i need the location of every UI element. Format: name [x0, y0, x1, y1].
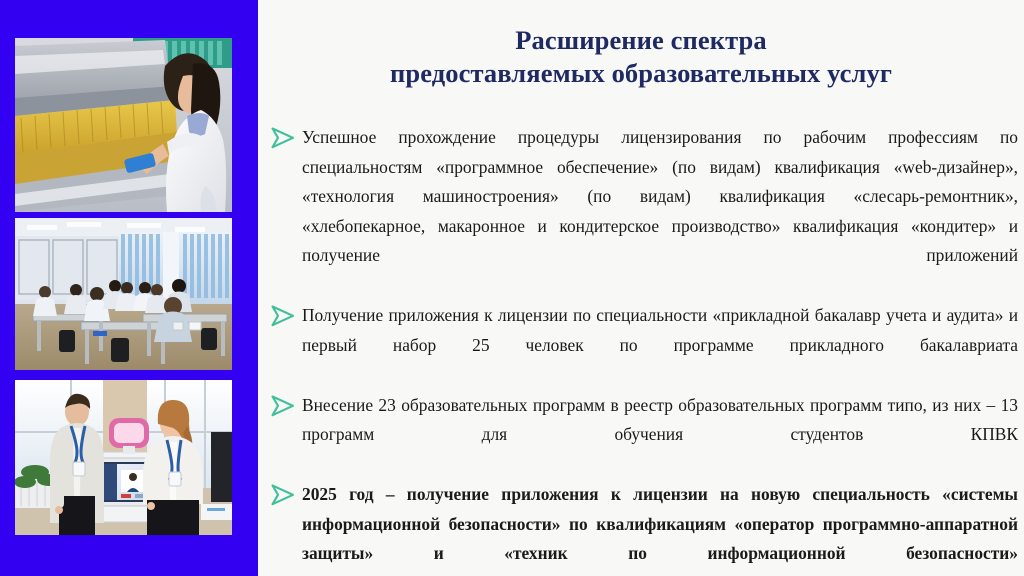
- list-item: 2025 год – получение приложения к лиценз…: [266, 480, 1018, 576]
- left-blue-panel: [0, 0, 258, 576]
- list-item: Внесение 23 образовательных программ в р…: [266, 391, 1018, 480]
- slide-root: Расширение спектра предоставляемых образ…: [0, 0, 1024, 576]
- photo-classroom-students-graphic: [15, 218, 232, 370]
- arrow-right-outline-icon: [269, 394, 297, 418]
- page-title: Расширение спектра предоставляемых образ…: [278, 24, 1004, 90]
- page-title-line-1: Расширение спектра: [278, 24, 1004, 57]
- arrow-right-outline-icon: [269, 483, 297, 507]
- photo-food-production-line-graphic: [15, 38, 232, 212]
- page-title-line-2: предоставляемых образовательных услуг: [278, 57, 1004, 90]
- list-item: Получение приложения к лицензии по специ…: [266, 301, 1018, 390]
- photo-students-with-kiosk-graphic: [15, 380, 232, 535]
- photo-food-production-line: [15, 38, 232, 212]
- photo-classroom-students: [15, 218, 232, 370]
- list-item-text: Внесение 23 образовательных программ в р…: [302, 391, 1018, 480]
- list-item-text: Успешное прохождение процедуры лицензиро…: [302, 123, 1018, 300]
- list-item-text: 2025 год – получение приложения к лиценз…: [302, 480, 1018, 576]
- list-item-text: Получение приложения к лицензии по специ…: [302, 301, 1018, 390]
- arrow-right-outline-icon: [269, 126, 297, 150]
- arrow-right-outline-icon: [269, 304, 297, 328]
- list-item: Успешное прохождение процедуры лицензиро…: [266, 123, 1018, 300]
- content-area: Расширение спектра предоставляемых образ…: [258, 0, 1024, 576]
- bullet-list: Успешное прохождение процедуры лицензиро…: [266, 123, 1018, 576]
- photo-students-with-kiosk: [15, 380, 232, 535]
